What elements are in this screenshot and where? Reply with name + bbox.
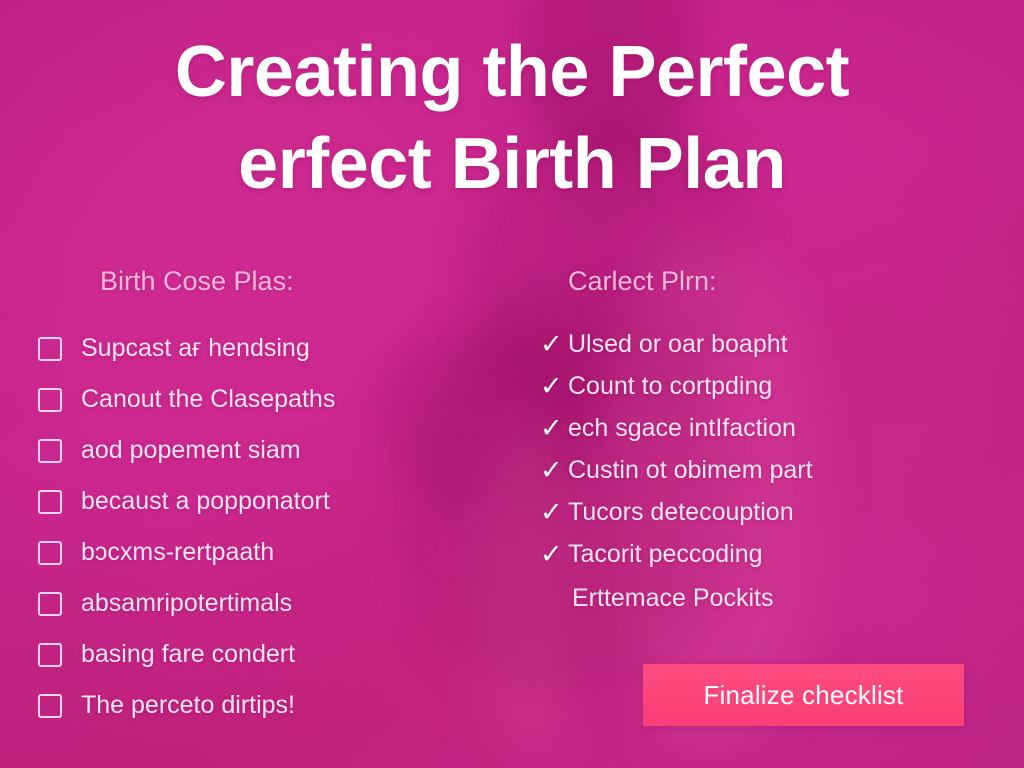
list-item[interactable]: ✓ Custin ot obimem part	[540, 449, 986, 491]
list-item-label: absamripotertimals	[81, 591, 292, 616]
checkbox-icon[interactable]	[38, 490, 62, 514]
list-item-label: Tucors detecouption	[568, 500, 794, 525]
list-item[interactable]: basing fare condert	[38, 629, 512, 680]
checkmark-icon: ✓	[540, 415, 564, 442]
list-item-label: Ulsed or oar boapht	[568, 332, 788, 357]
checkbox-icon[interactable]	[38, 541, 62, 565]
checkmark-icon: ✓	[540, 331, 564, 358]
list-item-label: Erttemace Pockits	[568, 586, 773, 611]
list-item-label: Canout the Clasepaths	[81, 387, 335, 412]
list-item-label: Tacorit peccoding	[568, 542, 763, 567]
list-item[interactable]: ✓ ech sgace intIfaction	[540, 407, 986, 449]
checkbox-icon[interactable]	[38, 388, 62, 412]
list-item[interactable]: ✓ Count to cortpding	[540, 365, 986, 407]
list-item-label: Count to cortpding	[568, 374, 772, 399]
list-item[interactable]: Canout the Clasepaths	[38, 374, 512, 425]
left-checklist: Supcast aғ hendsing Canout the Clasepath…	[38, 323, 512, 731]
list-item[interactable]: aod popement siam	[38, 425, 512, 476]
list-item-label: becaust a popponatort	[81, 489, 330, 514]
finalize-checklist-button[interactable]: Finalize checklist	[643, 664, 964, 726]
list-item[interactable]: ✓ Ulsed or oar boapht	[540, 323, 986, 365]
list-item[interactable]: Erttemace Pockits	[540, 575, 986, 621]
left-checklist-column: Birth Cose Plas: Supcast aғ hendsing Can…	[38, 268, 512, 731]
checklist-columns: Birth Cose Plas: Supcast aғ hendsing Can…	[0, 268, 1024, 731]
list-item-label: Custin ot obimem part	[568, 458, 813, 483]
list-item-label: Supcast aғ hendsing	[81, 336, 310, 361]
checkbox-icon[interactable]	[38, 592, 62, 616]
right-column-heading: Carlect Plrn:	[540, 268, 986, 295]
list-item[interactable]: becaust a popponatort	[38, 476, 512, 527]
checkmark-icon: ✓	[540, 373, 564, 400]
birth-plan-poster: Creating the Perfect erfect Birth Plan B…	[0, 0, 1024, 768]
checkbox-icon[interactable]	[38, 439, 62, 463]
right-checklist: ✓ Ulsed or oar boapht ✓ Count to cortpdi…	[540, 323, 986, 621]
checkmark-icon: ✓	[540, 499, 564, 526]
checkbox-icon[interactable]	[38, 694, 62, 718]
right-checklist-column: Carlect Plrn: ✓ Ulsed or oar boapht ✓ Co…	[512, 268, 986, 731]
list-item[interactable]: Supcast aғ hendsing	[38, 323, 512, 374]
list-item[interactable]: ✓ Tacorit peccoding	[540, 533, 986, 575]
list-item[interactable]: The perceto dirtips!	[38, 680, 512, 731]
list-item-label: ech sgace intIfaction	[568, 416, 796, 441]
list-item-label: aod popement siam	[81, 438, 301, 463]
list-item-label: basing fare condert	[81, 642, 295, 667]
checkmark-icon: ✓	[540, 457, 564, 484]
page-title-line-2: erfect Birth Plan	[40, 128, 984, 200]
left-column-heading: Birth Cose Plas:	[38, 268, 512, 295]
page-title-line-1: Creating the Perfect	[40, 36, 984, 108]
list-item-label: bɔcxms-rertpaath	[81, 540, 274, 565]
list-item[interactable]: ✓ Tucors detecouption	[540, 491, 986, 533]
list-item[interactable]: bɔcxms-rertpaath	[38, 527, 512, 578]
checkmark-icon: ✓	[540, 541, 564, 568]
list-item-label: The perceto dirtips!	[81, 693, 295, 718]
checkbox-icon[interactable]	[38, 643, 62, 667]
list-item[interactable]: absamripotertimals	[38, 578, 512, 629]
page-title: Creating the Perfect erfect Birth Plan	[0, 36, 1024, 200]
checkbox-icon[interactable]	[38, 337, 62, 361]
